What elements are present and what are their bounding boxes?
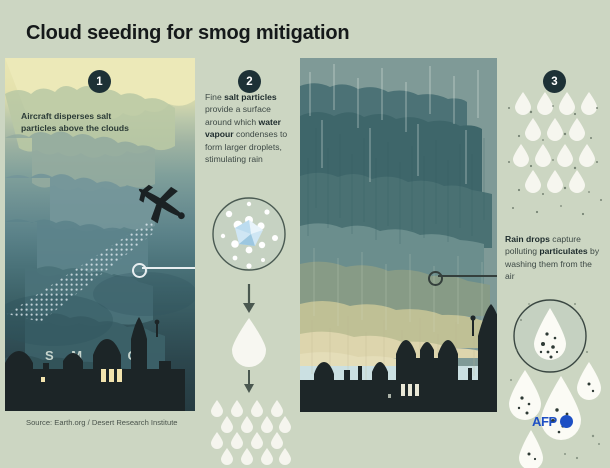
panel-aircraft-seeding: Aircraft disperses salt particles above … [5,58,195,411]
step3-text: Rain drops capture polluting particulate… [505,233,603,283]
source-credit: Source: Earth.org / Desert Research Inst… [26,418,178,427]
connector-node-1 [132,263,147,278]
down-arrow-icon-2 [239,370,259,394]
rain-droplets-with-particles-icon [505,88,605,223]
step-badge-2: 2 [238,70,261,93]
afp-logo: AFP [532,414,573,429]
down-arrow-icon [239,284,259,314]
water-droplet-icon [227,316,271,368]
connector-line-1 [142,267,195,269]
salt-crystal-icon [205,190,293,278]
page-title: Cloud seeding for smog mitigation [26,22,349,45]
panel-rain-capture: Rain drops capture polluting particulate… [505,58,605,411]
afp-dot-icon [560,415,573,428]
step-badge-1: 1 [88,70,111,93]
connector-line-3 [438,275,497,277]
airplane-icon [130,176,192,230]
panel-rainfall-city [300,58,497,412]
afp-wordmark: AFP [532,414,557,429]
connector-node-3 [428,271,443,286]
rain-droplets-icon [205,400,293,466]
city-silhouette-panel1 [5,291,195,411]
polluted-droplet-icon [505,358,605,468]
step-badge-3: 3 [543,70,566,93]
step2-text: Fine salt particles provide a surface ar… [205,91,291,165]
infographic-root: Cloud seeding for smog mitigation [0,0,610,455]
panel-droplet-formation: Fine salt particles provide a surface ar… [205,58,293,411]
step1-label: Aircraft disperses salt particles above … [21,110,171,134]
rain-bands [300,58,497,412]
